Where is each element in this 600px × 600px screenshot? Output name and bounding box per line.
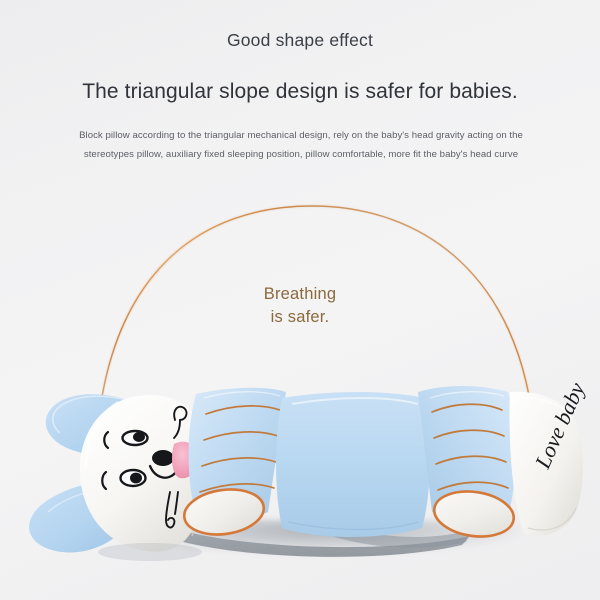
head-contact-shadow bbox=[98, 543, 202, 561]
eye-lower bbox=[121, 470, 146, 486]
side-bolster-right bbox=[418, 386, 517, 541]
eye-upper bbox=[123, 431, 148, 445]
product-ad-page: Good shape effect The triangular slope d… bbox=[0, 0, 600, 600]
side-bolster-left bbox=[181, 388, 286, 540]
center-cushion bbox=[276, 392, 430, 537]
nose bbox=[152, 450, 174, 466]
product-illustration: Love baby bbox=[0, 0, 600, 600]
end-panel-right: Love baby bbox=[510, 378, 590, 535]
